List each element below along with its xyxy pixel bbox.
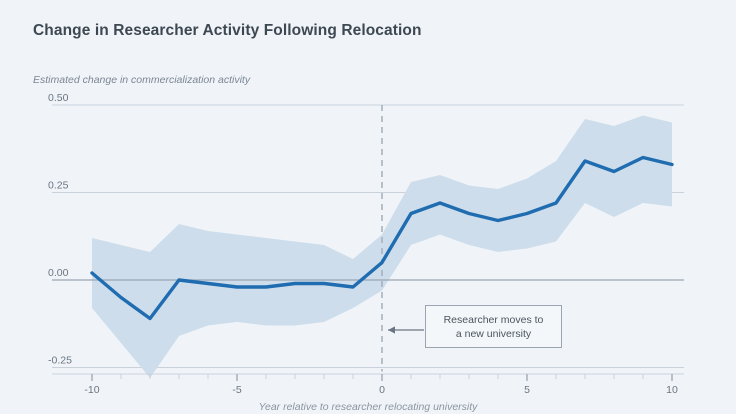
x-axis-title: Year relative to researcher relocating u… bbox=[0, 401, 736, 413]
y-tick-label: -0.25 bbox=[48, 355, 72, 367]
y-tick-label: 0.50 bbox=[48, 92, 69, 104]
y-tick-label: 0.25 bbox=[48, 180, 69, 192]
annotation-arrow bbox=[388, 326, 424, 333]
x-tick-labels: -10-50510 bbox=[84, 384, 678, 396]
x-tick-label: 10 bbox=[666, 384, 678, 396]
chart-container: Change in Researcher Activity Following … bbox=[0, 0, 736, 414]
x-tick-label: -5 bbox=[232, 384, 241, 396]
x-tick-label: 0 bbox=[379, 384, 385, 396]
x-axis bbox=[52, 374, 684, 381]
x-tick-label: 5 bbox=[524, 384, 530, 396]
annotation-researcher-moves: Researcher moves to a new university bbox=[425, 305, 562, 348]
chart-plot-area: 0.500.250.00-0.25 -10-50510 bbox=[0, 0, 736, 414]
x-tick-label: -10 bbox=[84, 384, 99, 396]
y-tick-labels: 0.500.250.00-0.25 bbox=[48, 92, 72, 367]
y-tick-label: 0.00 bbox=[48, 267, 69, 279]
